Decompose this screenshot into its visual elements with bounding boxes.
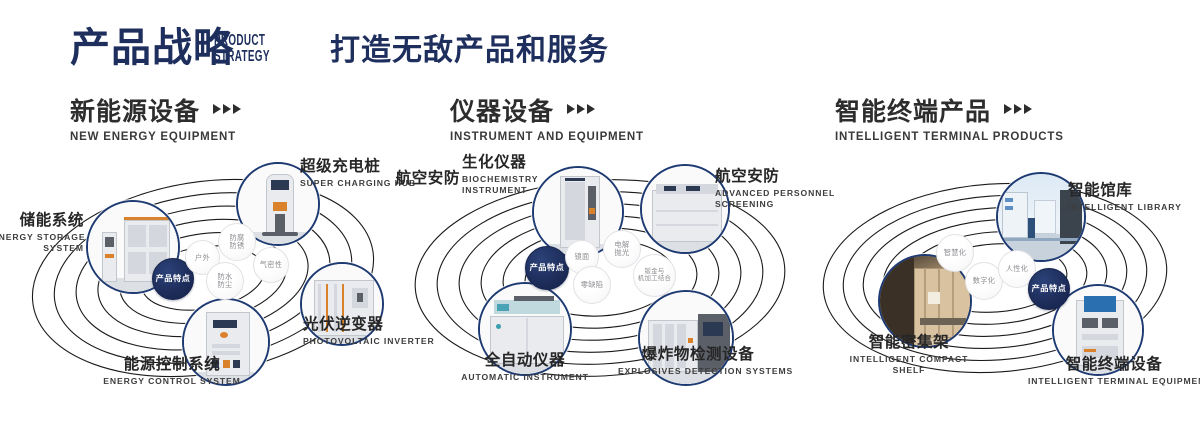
label-cn: 储能系统: [0, 212, 84, 230]
feature-bubble-label: 零缺陷: [581, 281, 603, 289]
page-title-english-line2: STRATEGY: [214, 49, 270, 65]
core-bubble-label: 产品特点: [156, 275, 191, 284]
chevron-right-icon: [567, 101, 597, 119]
label-aviation-security-left: 航空安防: [370, 170, 460, 188]
label-en-line1: ENERGY STORAGE: [0, 232, 84, 243]
feature-bubble-label: 户外: [195, 254, 210, 262]
label-energy-storage-system: 储能系统 ENERGY STORAGE SYSTEM: [0, 212, 84, 254]
label-cn: 航空安防: [370, 170, 460, 188]
section-title-en: INTELLIGENT TERMINAL PRODUCTS: [835, 131, 1064, 143]
label-cn: 全自动仪器: [446, 352, 604, 370]
feature-bubble-airtightness: 气密性: [253, 247, 289, 283]
feature-bubble-anti-corrosion: 防腐防锈: [218, 223, 256, 261]
page-title: 产品战略: [70, 26, 234, 70]
feature-bubble-zero-defect: 零缺陷: [573, 266, 611, 304]
label-cn: 智能终端设备: [1028, 356, 1200, 374]
label-en: EXPLOSIVES DETECTION SYSTEMS: [618, 366, 778, 377]
cluster-instrument-and-equipment: 产品特点 镜面 电解抛光 零缺陷 钣金与机加工结合 航空安防 生化仪器 BIOC…: [400, 150, 800, 412]
section-title-cn: 智能终端产品: [835, 98, 991, 126]
cluster-intelligent-terminal-products: 智慧化 数字化 人性化 产品特点 智能馆库 INTELLIGENT LIBRAR…: [800, 150, 1200, 412]
label-explosives-detection-systems: 爆炸物检测设备 EXPLOSIVES DETECTION SYSTEMS: [618, 346, 778, 377]
feature-bubble-label: 防水防尘: [218, 273, 233, 289]
core-bubble-product-features: 产品特点: [525, 246, 569, 290]
core-bubble-label: 产品特点: [530, 264, 565, 273]
label-biochemistry-instrument: 生化仪器 BIOCHEMISTRY INSTRUMENT: [462, 154, 538, 196]
feature-bubble-label: 防腐防锈: [230, 234, 245, 250]
page-title-english-line1: PRODUCT: [214, 33, 270, 49]
label-intelligent-compact-shelf: 智能密集架 INTELLIGENT COMPACT SHELF: [824, 334, 994, 376]
label-cn: 能源控制系统: [72, 356, 272, 374]
feature-bubble-label: 电解抛光: [615, 241, 630, 257]
label-cn: 智能密集架: [824, 334, 994, 352]
page-subtitle: 打造无敌产品和服务: [330, 33, 609, 69]
section-title-intelligent-terminal: 智能终端产品 INTELLIGENT TERMINAL PRODUCTS: [835, 98, 1064, 143]
page-header: 产品战略 PRODUCT STRATEGY 打造无敌产品和服务: [0, 0, 1200, 88]
label-en-line1: BIOCHEMISTRY: [462, 174, 538, 185]
label-en: INTELLIGENT TERMINAL EQUIPMENT: [1028, 376, 1200, 387]
feature-bubble-label: 数字化: [973, 277, 995, 285]
chevron-right-icon: [1004, 101, 1034, 119]
section-title-instrument: 仪器设备 INSTRUMENT AND EQUIPMENT: [450, 98, 644, 143]
label-intelligent-library: 智能馆库 INTELLIGENT LIBRARY: [1068, 182, 1182, 213]
feature-bubble-sheet-metal-machining: 钣金与机加工结合: [633, 254, 676, 297]
section-title-new-energy: 新能源设备 NEW ENERGY EQUIPMENT: [70, 98, 243, 143]
label-cn: 智能馆库: [1068, 182, 1182, 200]
label-intelligent-terminal-equipment: 智能终端设备 INTELLIGENT TERMINAL EQUIPMENT: [1028, 356, 1200, 387]
feature-bubble-intelligent: 智慧化: [936, 234, 974, 272]
label-en-line1: INTELLIGENT COMPACT: [824, 354, 994, 365]
label-en: ENERGY CONTROL SYSTEM: [72, 376, 272, 387]
label-en-line2: INSTRUMENT: [462, 185, 538, 196]
feature-bubble-label: 镜面: [575, 253, 590, 261]
page-title-english: PRODUCT STRATEGY: [214, 33, 270, 65]
feature-bubble-label: 钣金与机加工结合: [638, 269, 671, 283]
section-title-cn: 新能源设备: [70, 98, 200, 126]
label-en: INTELLIGENT LIBRARY: [1068, 202, 1182, 213]
label-energy-control-system: 能源控制系统 ENERGY CONTROL SYSTEM: [72, 356, 272, 387]
label-en: AUTOMATIC INSTRUMENT: [446, 372, 604, 383]
section-title-en: NEW ENERGY EQUIPMENT: [70, 131, 243, 143]
cluster-new-energy-equipment: 产品特点 户外 防腐防锈 气密性 防水防尘 储能系统 ENERGY STORAG…: [0, 150, 400, 412]
label-automatic-instrument: 全自动仪器 AUTOMATIC INSTRUMENT: [446, 352, 604, 383]
section-title-en: INSTRUMENT AND EQUIPMENT: [450, 131, 644, 143]
section-title-cn: 仪器设备: [450, 98, 554, 126]
label-en-line2: SHELF: [824, 365, 994, 376]
label-cn: 生化仪器: [462, 154, 538, 172]
feature-bubble-waterproof-dustproof: 防水防尘: [206, 262, 244, 300]
label-cn: 爆炸物检测设备: [618, 346, 778, 364]
feature-bubble-electropolishing: 电解抛光: [603, 230, 641, 268]
label-en-line2: SYSTEM: [0, 243, 84, 254]
feature-bubble-label: 气密性: [260, 261, 282, 269]
feature-bubble-label: 智慧化: [944, 249, 966, 257]
chevron-right-icon: [213, 101, 243, 119]
feature-bubble-label: 人性化: [1006, 265, 1028, 273]
core-bubble-label: 产品特点: [1032, 285, 1067, 294]
core-bubble-product-features: 产品特点: [1028, 268, 1070, 310]
